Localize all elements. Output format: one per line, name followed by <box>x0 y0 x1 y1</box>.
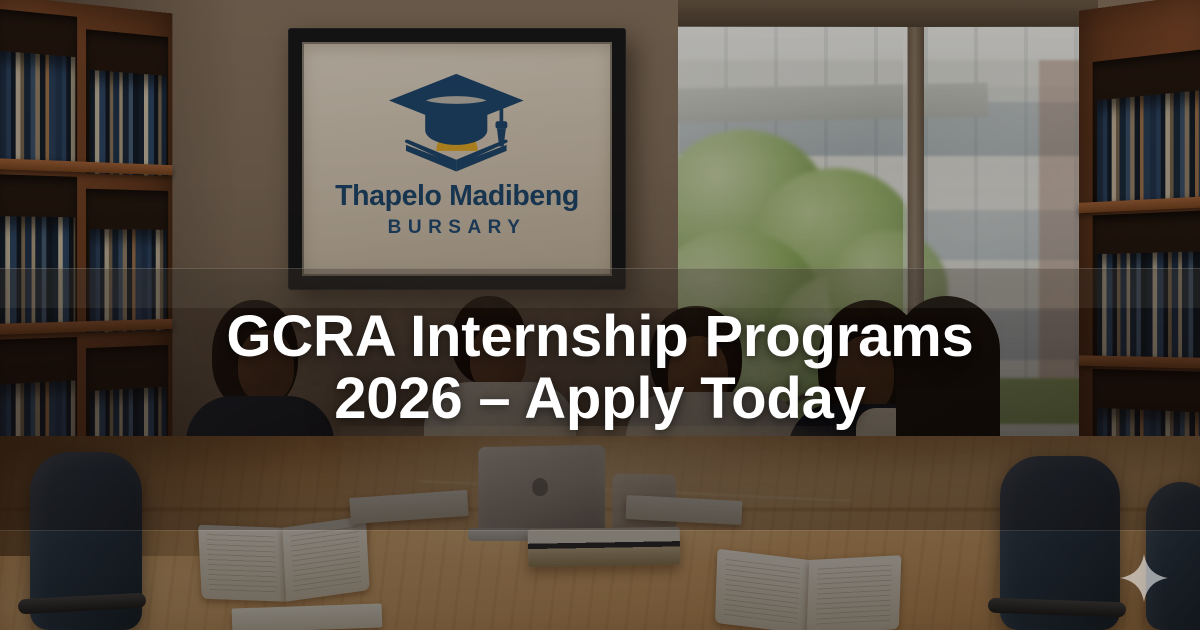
overlay-band-light <box>0 268 1200 308</box>
banner-image: Thapelo Madibeng BURSARY GCRA Internship… <box>0 0 1200 630</box>
headline: GCRA Internship Programs 2026 – Apply To… <box>0 306 1200 430</box>
headline-line-2: 2026 – Apply Today <box>70 368 1130 430</box>
overlay-band-edge-top <box>0 268 1200 269</box>
four-point-sparkle-icon <box>1118 552 1170 604</box>
overlay-band-edge-bottom <box>0 530 1200 531</box>
headline-line-1: GCRA Internship Programs <box>70 306 1130 368</box>
